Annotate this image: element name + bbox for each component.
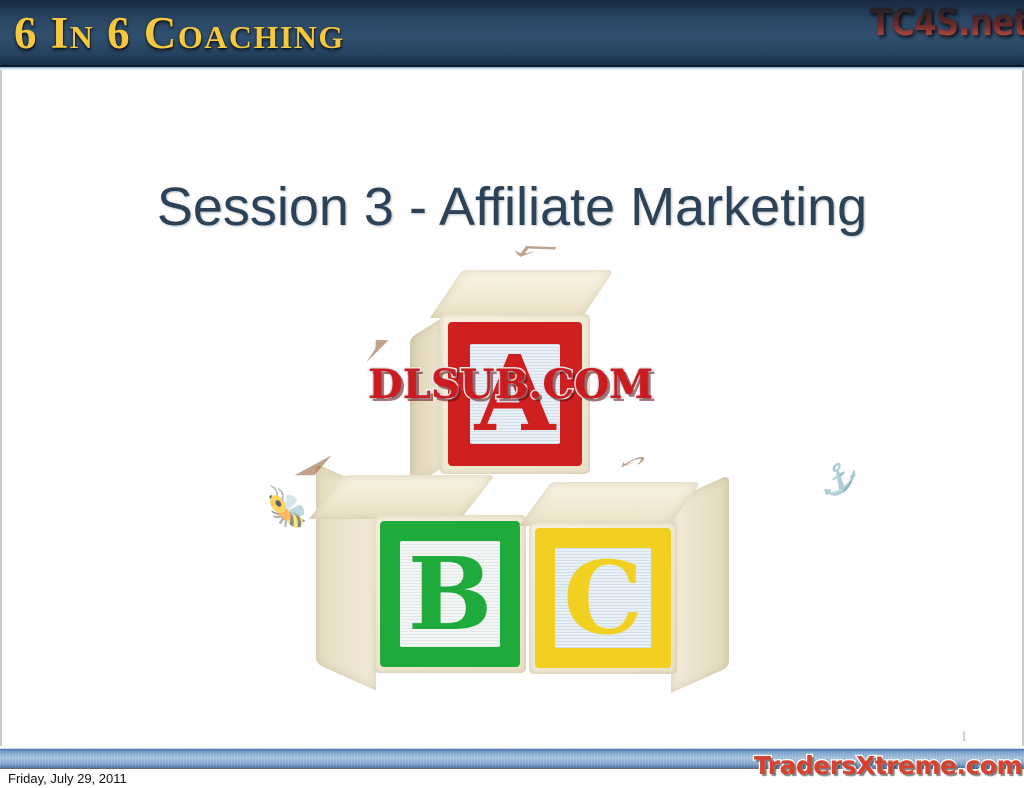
presentation-slide: 6 In 6 Coaching TC4S.net Session 3 - Aff… xyxy=(0,0,1024,788)
footer-date: Friday, July 29, 2011 xyxy=(8,771,127,787)
block-c-top-face: ↶ xyxy=(519,482,701,526)
block-c-front-face: C xyxy=(529,522,677,674)
slide-title: Session 3 - Affiliate Marketing xyxy=(2,175,1022,239)
brand-title: 6 In 6 Coaching xyxy=(14,6,345,60)
bee-engraving-icon: 🐝 xyxy=(263,480,310,542)
header-banner: 6 In 6 Coaching TC4S.net xyxy=(0,0,1024,67)
block-b-top-face: ▲ xyxy=(309,475,495,519)
block-a-top-face: ↳ xyxy=(430,270,614,318)
hook-engraving-icon: ↳ xyxy=(492,238,571,265)
tradersxtreme-logo: TradersXtreme.com xyxy=(754,751,1022,781)
block-b-letter: B xyxy=(374,515,526,673)
block-b-front-face: B xyxy=(374,515,526,673)
anchor-engraving-icon: ⚓ xyxy=(818,452,862,507)
page-number: 1 xyxy=(950,729,978,746)
swirl-engraving-icon: ↶ xyxy=(600,448,664,478)
slide-content-area: Session 3 - Affiliate Marketing ➤ ↳ A xyxy=(0,70,1024,746)
block-b: 🐝 ▲ B xyxy=(374,515,526,673)
block-c: ⚓ ↶ C xyxy=(529,522,677,674)
dlsub-watermark: DLSUB.COM xyxy=(368,363,653,407)
block-c-letter: C xyxy=(529,522,677,674)
tc4s-logo: TC4S.net xyxy=(870,0,1024,47)
